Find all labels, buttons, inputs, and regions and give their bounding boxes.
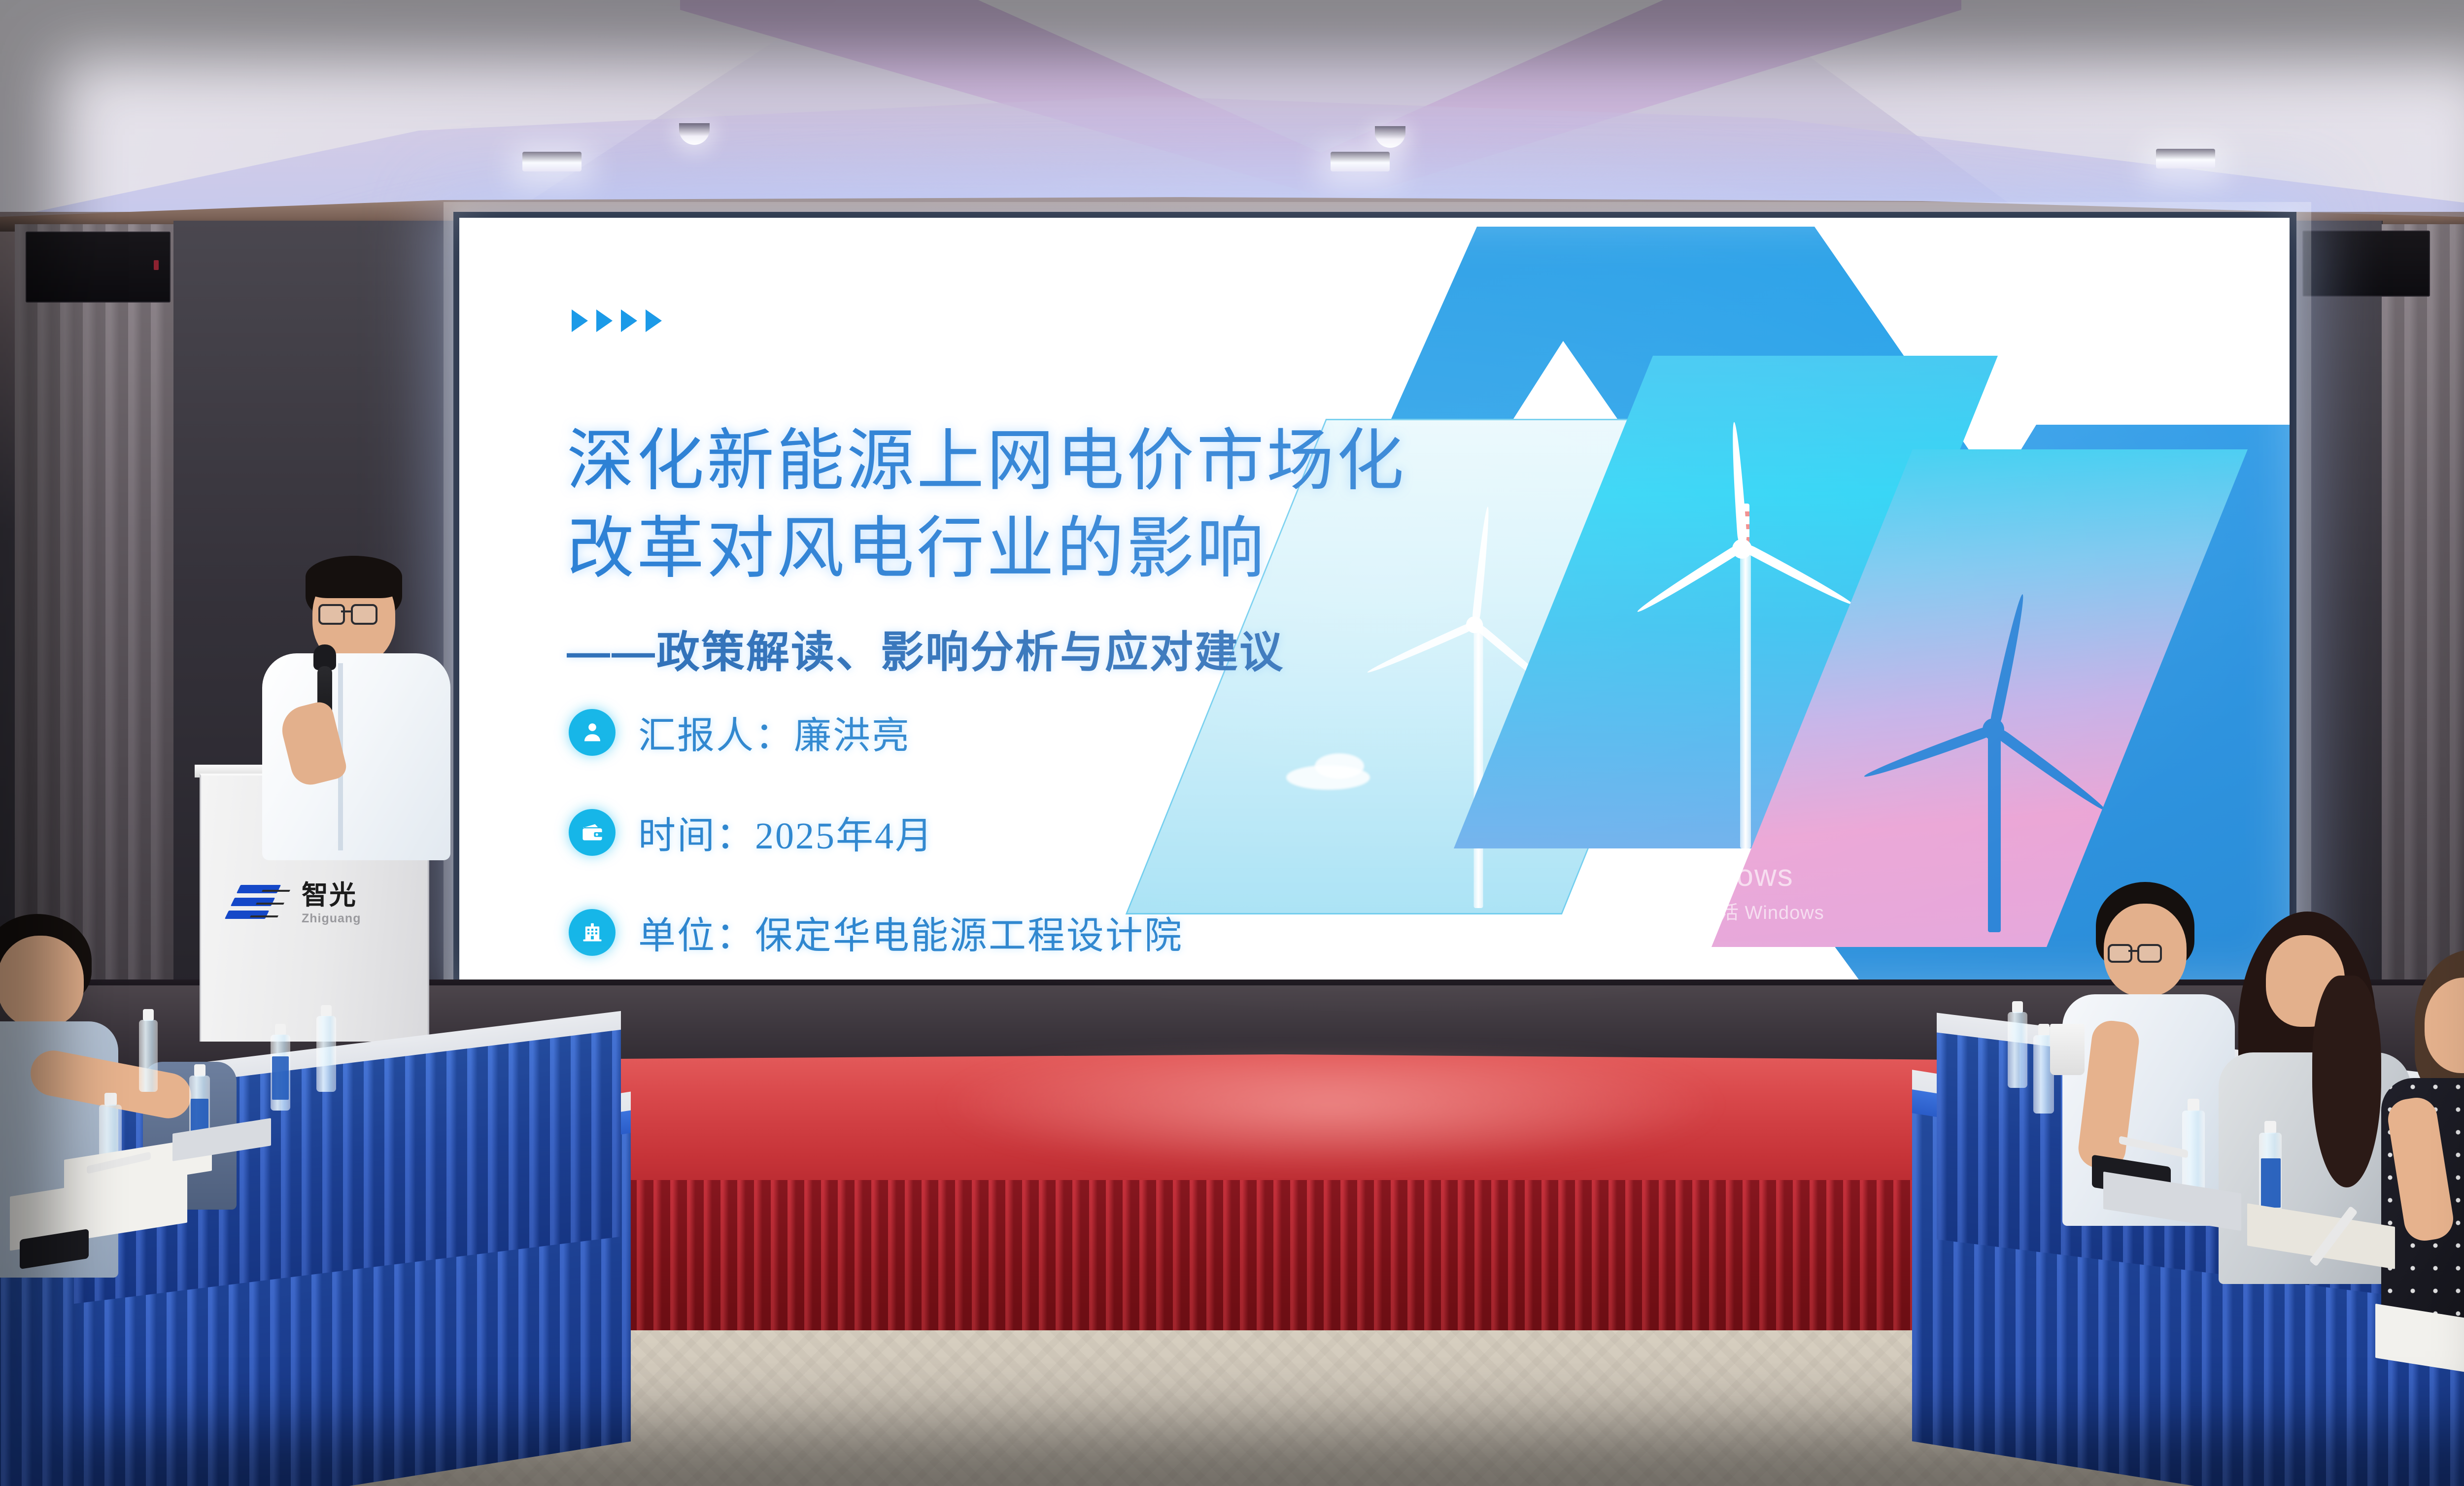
- info-row-date: 时间：2025年4月: [569, 803, 1183, 861]
- spot-light-icon: [2156, 149, 2215, 169]
- presenter: [251, 557, 458, 833]
- wall-panel: [2295, 221, 2383, 994]
- led-screen[interactable]: 深化新能源上网电价市场化 改革对风电行业的影响 ——政策解读、影响分析与应对建议: [459, 218, 2290, 985]
- wallet-icon: [569, 809, 616, 856]
- building-icon: [569, 909, 616, 956]
- water-bottle: [2006, 1001, 2028, 1088]
- arrow-decoration: [572, 309, 662, 332]
- presentation-slide: 深化新能源上网电价市场化 改革对风电行业的影响 ——政策解读、影响分析与应对建议: [459, 218, 2290, 985]
- curtain-right: [2382, 224, 2464, 993]
- slide-title-line-1: 深化新能源上网电价市场化: [567, 417, 1533, 505]
- speaker-box: [2302, 231, 2430, 297]
- podium-logo: 智光 Zhiguang: [226, 874, 403, 933]
- water-bottle: [2257, 1121, 2283, 1219]
- info-row-presenter: 汇报人：廉洪亮: [569, 703, 1183, 761]
- stage-light-glow: [936, 1059, 1725, 1173]
- conference-room: 深化新能源上网电价市场化 改革对风电行业的影响 ——政策解读、影响分析与应对建议: [0, 0, 2464, 1486]
- blue-turbine-silhouette: [1886, 617, 2103, 932]
- slide-title-line-2: 改革对风电行业的影响: [567, 505, 1533, 593]
- glasses-icon: [2108, 944, 2177, 962]
- person-icon: [569, 709, 616, 756]
- spot-light-icon: [522, 152, 582, 171]
- cloud-icon: [1315, 753, 1364, 779]
- water-bottle: [269, 1024, 291, 1111]
- spot-light-icon: [1331, 152, 1390, 171]
- screenshot-root: 深化新能源上网电价市场化 改革对风电行业的影响 ——政策解读、影响分析与应对建议: [0, 0, 2464, 1486]
- slide-title-block: 深化新能源上网电价市场化 改革对风电行业的影响 ——政策解读、影响分析与应对建议: [567, 417, 1533, 680]
- speaker-led-icon: [154, 260, 159, 270]
- info-organization-text: 单位：保定华电能源工程设计院: [638, 905, 1183, 959]
- slide-info-list: 汇报人：廉洪亮 时间：2025年4月: [569, 703, 1183, 985]
- podium-brand-cn: 智光: [302, 882, 361, 909]
- water-bottle: [137, 1009, 159, 1092]
- triangle-arrow-icon: [572, 309, 588, 332]
- info-date-text: 时间：2025年4月: [638, 805, 934, 859]
- info-row-organization: 单位：保定华电能源工程设计院: [569, 903, 1183, 961]
- curtain-left: [15, 224, 182, 993]
- water-bottle: [2180, 1099, 2206, 1195]
- glasses-icon: [318, 604, 392, 624]
- coffee-cup: [2050, 1024, 2085, 1075]
- triangle-arrow-icon: [621, 309, 637, 332]
- zhiguang-logo-mark-icon: [226, 883, 291, 924]
- slide-subtitle: ——政策解读、影响分析与应对建议: [567, 617, 1533, 680]
- triangle-arrow-icon: [596, 309, 613, 332]
- podium-brand-en: Zhiguang: [302, 912, 361, 926]
- speaker-box: [26, 232, 171, 303]
- water-bottle: [314, 1005, 337, 1092]
- info-presenter-text: 汇报人：廉洪亮: [638, 705, 911, 759]
- triangle-arrow-icon: [646, 309, 662, 332]
- attendee-right-3: [2389, 950, 2464, 1364]
